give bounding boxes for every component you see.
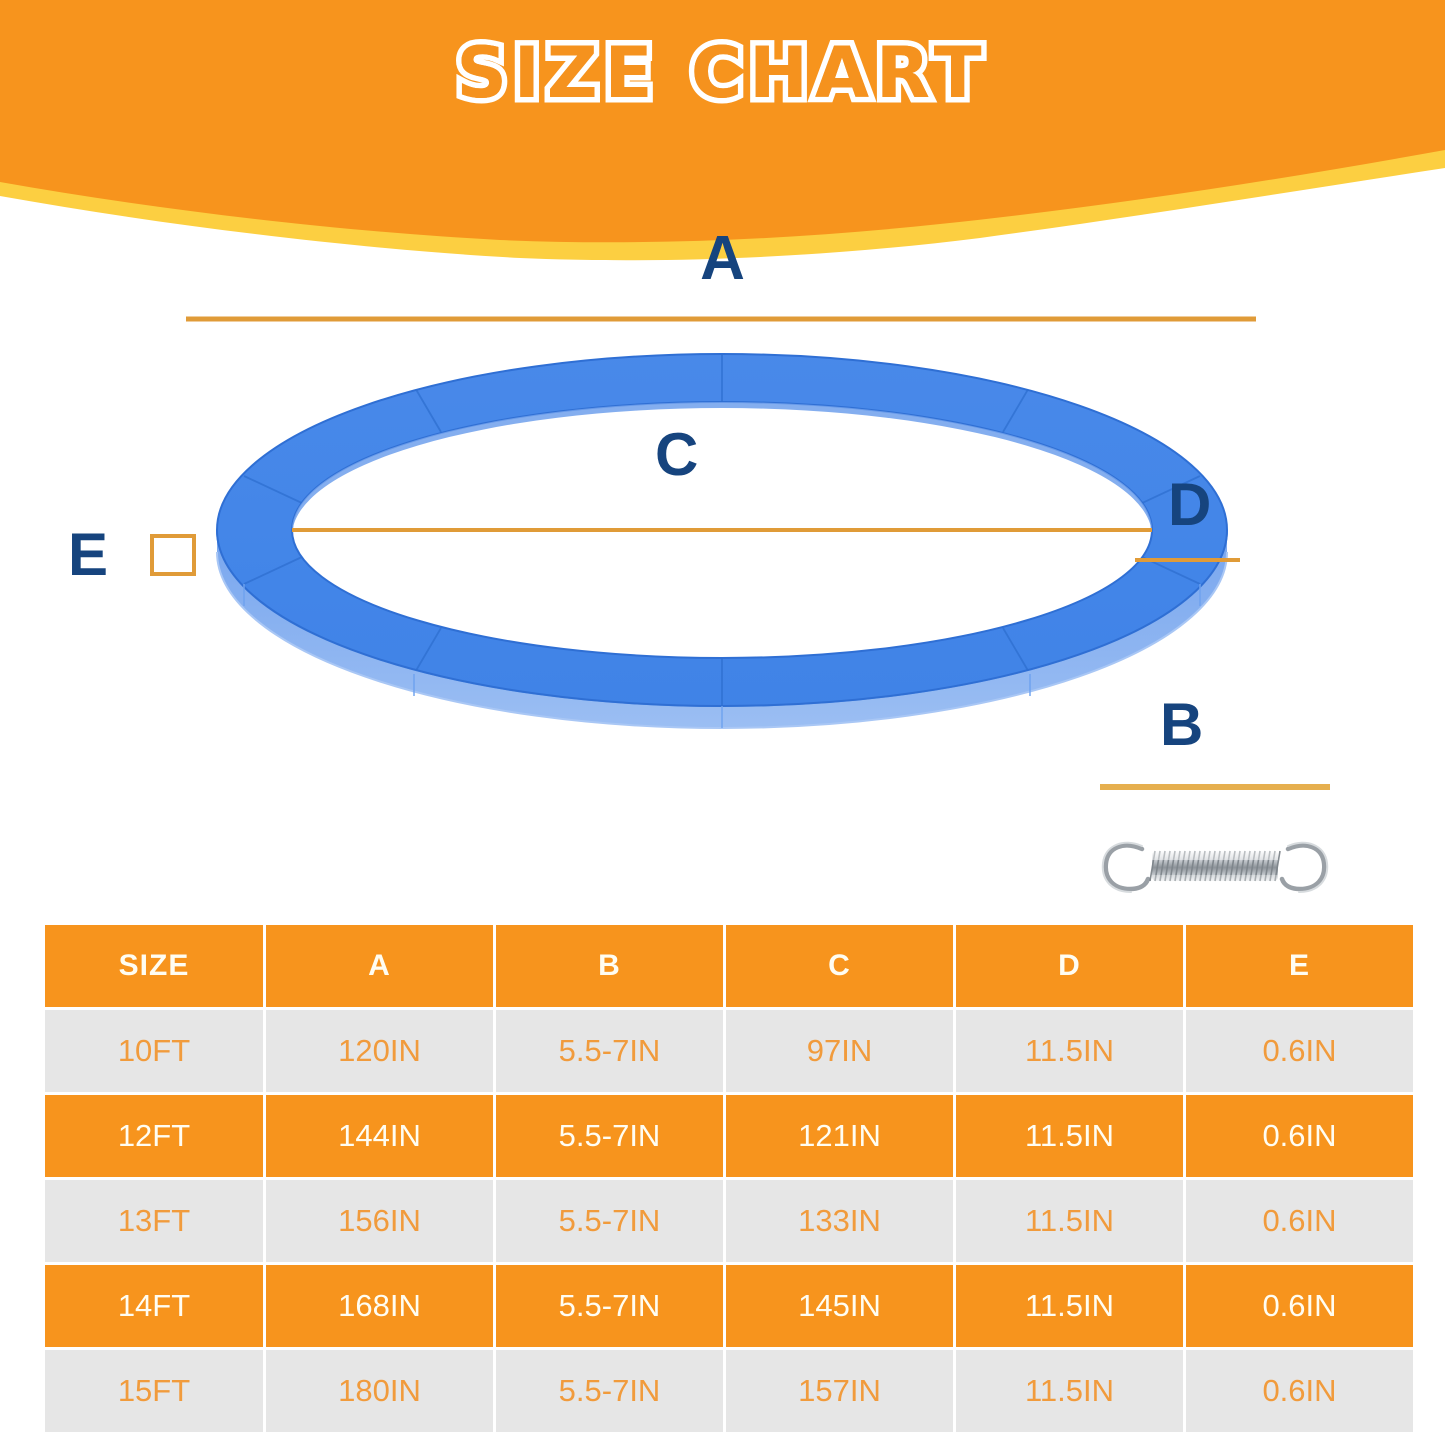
dimension-label-b: B bbox=[1160, 695, 1203, 755]
cell-e: 0.6IN bbox=[1186, 1350, 1413, 1432]
cell-size: 14FT bbox=[45, 1265, 263, 1347]
table-row: 10FT 120IN 5.5-7IN 97IN 11.5IN 0.6IN bbox=[45, 1010, 1413, 1092]
dimension-label-c: C bbox=[655, 425, 698, 485]
column-header-c: C bbox=[726, 925, 953, 1007]
cell-a: 156IN bbox=[266, 1180, 493, 1262]
table-row: 13FT 156IN 5.5-7IN 133IN 11.5IN 0.6IN bbox=[45, 1180, 1413, 1262]
cell-e: 0.6IN bbox=[1186, 1010, 1413, 1092]
cell-c: 145IN bbox=[726, 1265, 953, 1347]
cell-size: 13FT bbox=[45, 1180, 263, 1262]
cell-size: 15FT bbox=[45, 1350, 263, 1432]
cell-d: 11.5IN bbox=[956, 1095, 1183, 1177]
table-row: 12FT 144IN 5.5-7IN 121IN 11.5IN 0.6IN bbox=[45, 1095, 1413, 1177]
column-header-e: E bbox=[1186, 925, 1413, 1007]
table-header-row: SIZE A B C D E bbox=[45, 925, 1413, 1007]
cell-b: 5.5-7IN bbox=[496, 1010, 723, 1092]
table-row: 15FT 180IN 5.5-7IN 157IN 11.5IN 0.6IN bbox=[45, 1350, 1413, 1432]
cell-a: 120IN bbox=[266, 1010, 493, 1092]
cell-c: 133IN bbox=[726, 1180, 953, 1262]
cell-c: 97IN bbox=[726, 1010, 953, 1092]
cell-b: 5.5-7IN bbox=[496, 1180, 723, 1262]
column-header-d: D bbox=[956, 925, 1183, 1007]
cell-a: 168IN bbox=[266, 1265, 493, 1347]
cell-a: 144IN bbox=[266, 1095, 493, 1177]
page-title: SIZE CHART bbox=[0, 38, 1445, 108]
column-header-b: B bbox=[496, 925, 723, 1007]
table-row: 14FT 168IN 5.5-7IN 145IN 11.5IN 0.6IN bbox=[45, 1265, 1413, 1347]
cell-d: 11.5IN bbox=[956, 1180, 1183, 1262]
cell-c: 121IN bbox=[726, 1095, 953, 1177]
dimension-label-a: A bbox=[0, 228, 1445, 290]
cell-e: 0.6IN bbox=[1186, 1265, 1413, 1347]
cell-c: 157IN bbox=[726, 1350, 953, 1432]
size-chart-table: SIZE A B C D E 10FT 120IN 5.5-7IN 97IN 1… bbox=[42, 922, 1416, 1435]
column-header-size: SIZE bbox=[45, 925, 263, 1007]
cell-size: 10FT bbox=[45, 1010, 263, 1092]
column-header-a: A bbox=[266, 925, 493, 1007]
cell-b: 5.5-7IN bbox=[496, 1095, 723, 1177]
cell-d: 11.5IN bbox=[956, 1350, 1183, 1432]
cell-b: 5.5-7IN bbox=[496, 1265, 723, 1347]
cell-d: 11.5IN bbox=[956, 1010, 1183, 1092]
cell-b: 5.5-7IN bbox=[496, 1350, 723, 1432]
dimension-label-d: D bbox=[1168, 475, 1211, 535]
cell-e: 0.6IN bbox=[1186, 1180, 1413, 1262]
cell-e: 0.6IN bbox=[1186, 1095, 1413, 1177]
product-diagram: A C D E B bbox=[0, 180, 1445, 920]
cell-d: 11.5IN bbox=[956, 1265, 1183, 1347]
dimension-label-e: E bbox=[68, 525, 108, 585]
cell-size: 12FT bbox=[45, 1095, 263, 1177]
cell-a: 180IN bbox=[266, 1350, 493, 1432]
